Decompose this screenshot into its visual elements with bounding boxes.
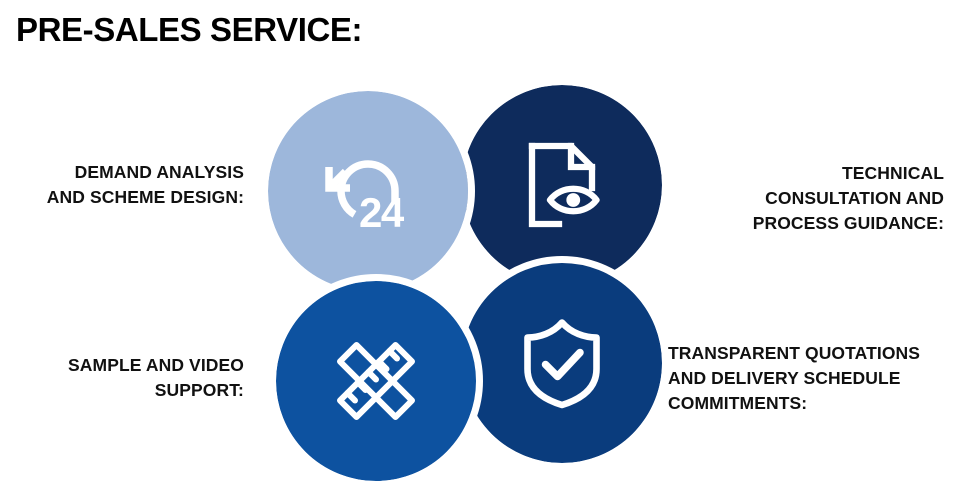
service-circle-sample-video[interactable] bbox=[276, 281, 476, 481]
page-title: PRE-SALES SERVICE: bbox=[16, 12, 362, 48]
service-circle-cluster: 24 bbox=[268, 85, 662, 485]
service-circle-transparent-quotations[interactable] bbox=[462, 263, 662, 463]
label-technical-consultation: TECHNICAL CONSULTATION AND PROCESS GUIDA… bbox=[728, 161, 944, 236]
label-sample-video: SAMPLE AND VIDEO SUPPORT: bbox=[0, 353, 244, 403]
clock-24-arrow-icon: 24 bbox=[320, 143, 416, 239]
pen-ruler-icon bbox=[328, 333, 424, 429]
document-eye-icon bbox=[514, 137, 610, 233]
svg-text:24: 24 bbox=[359, 189, 405, 236]
label-transparent-quotations: TRANSPARENT QUOTATIONS AND DELIVERY SCHE… bbox=[668, 341, 960, 416]
service-circle-technical-consultation[interactable] bbox=[462, 85, 662, 285]
service-circle-demand-analysis[interactable]: 24 bbox=[268, 91, 468, 291]
label-demand-analysis: DEMAND ANALYSIS AND SCHEME DESIGN: bbox=[0, 160, 244, 210]
shield-check-icon bbox=[514, 315, 610, 411]
